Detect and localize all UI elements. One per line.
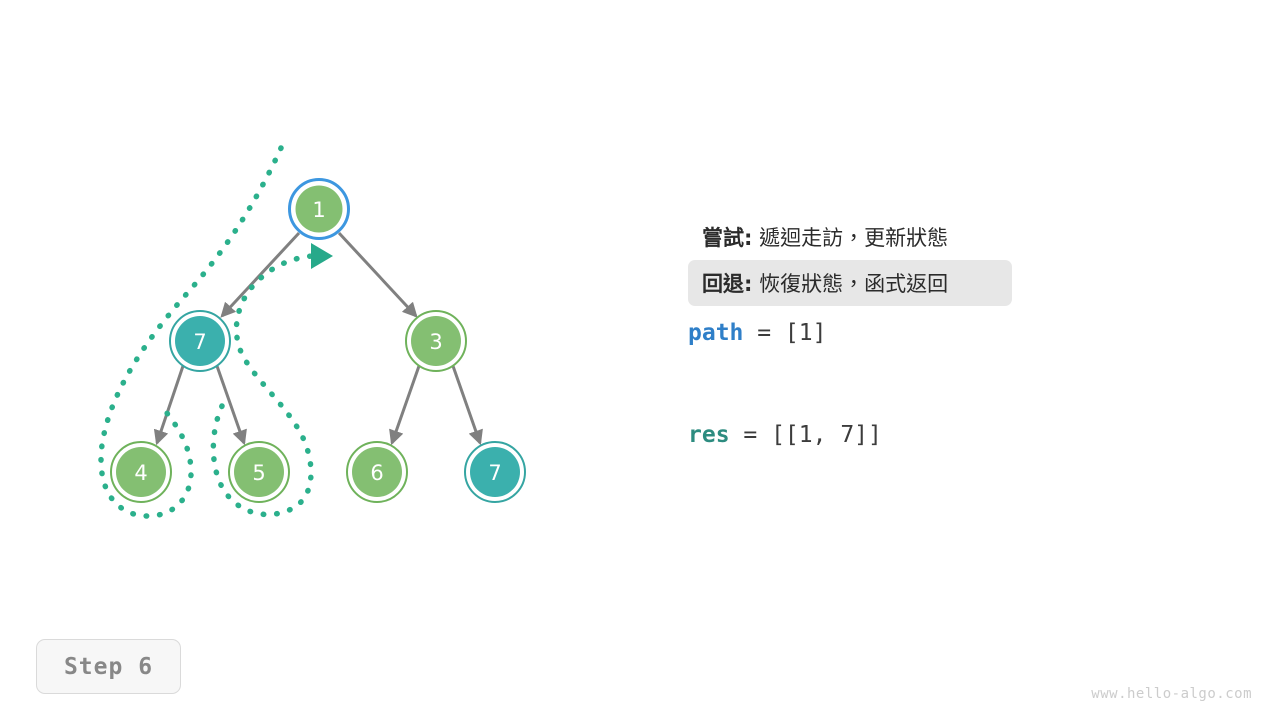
- operation-row-backtrack: 回退: 恢復狀態，函式返回: [688, 260, 1012, 306]
- tree-node-7-right-label: 7: [488, 461, 501, 485]
- tree-node-6-label: 6: [370, 461, 383, 485]
- tree-node-5[interactable]: 5: [229, 442, 289, 502]
- tree-node-7-left[interactable]: 7: [170, 311, 230, 371]
- variable-path: path = [1]: [688, 320, 1208, 346]
- tree-node-4[interactable]: 4: [111, 442, 171, 502]
- edge-7-4: [157, 366, 183, 443]
- tree-node-1[interactable]: 1: [290, 180, 349, 239]
- operation-backtrack-key: 回退:: [702, 268, 752, 298]
- tree-node-5-label: 5: [252, 461, 265, 485]
- binary-tree-svg: 1 7 3 4: [0, 0, 660, 600]
- tree-node-3[interactable]: 3: [406, 311, 466, 371]
- tree-node-3-label: 3: [429, 330, 442, 354]
- variable-path-name: path: [688, 320, 743, 346]
- variable-res-value: = [[1, 7]]: [730, 422, 882, 448]
- operation-row-try: 嘗試: 遞迴走訪，更新狀態: [688, 214, 1012, 260]
- variable-res-name: res: [688, 422, 730, 448]
- state-panel: 嘗試: 遞迴走訪，更新狀態 回退: 恢復狀態，函式返回 path = [1] r…: [688, 214, 1208, 448]
- variable-res: res = [[1, 7]]: [688, 422, 1208, 448]
- tree-diagram: 1 7 3 4: [0, 0, 660, 600]
- step-badge: Step 6: [36, 639, 181, 694]
- tree-node-7-left-label: 7: [193, 330, 206, 354]
- edge-1-3: [339, 233, 416, 316]
- tree-node-7-right[interactable]: 7: [465, 442, 525, 502]
- tree-node-4-label: 4: [134, 461, 147, 485]
- step-label: Step 6: [64, 654, 153, 680]
- edge-3-6: [392, 366, 419, 443]
- tree-nodes: 1 7 3 4: [111, 180, 525, 503]
- edge-1-7: [222, 233, 299, 316]
- watermark: www.hello-algo.com: [1091, 686, 1252, 702]
- tree-node-1-label: 1: [312, 198, 325, 222]
- edge-3-7: [453, 366, 480, 443]
- operation-backtrack-text: 恢復狀態，函式返回: [752, 268, 948, 298]
- variable-path-value: = [1]: [743, 320, 826, 346]
- operation-try-text: 遞迴走訪，更新狀態: [752, 222, 948, 252]
- operation-try-key: 嘗試:: [702, 222, 752, 252]
- tree-node-6[interactable]: 6: [347, 442, 407, 502]
- trace-arrowhead-icon: [311, 243, 333, 269]
